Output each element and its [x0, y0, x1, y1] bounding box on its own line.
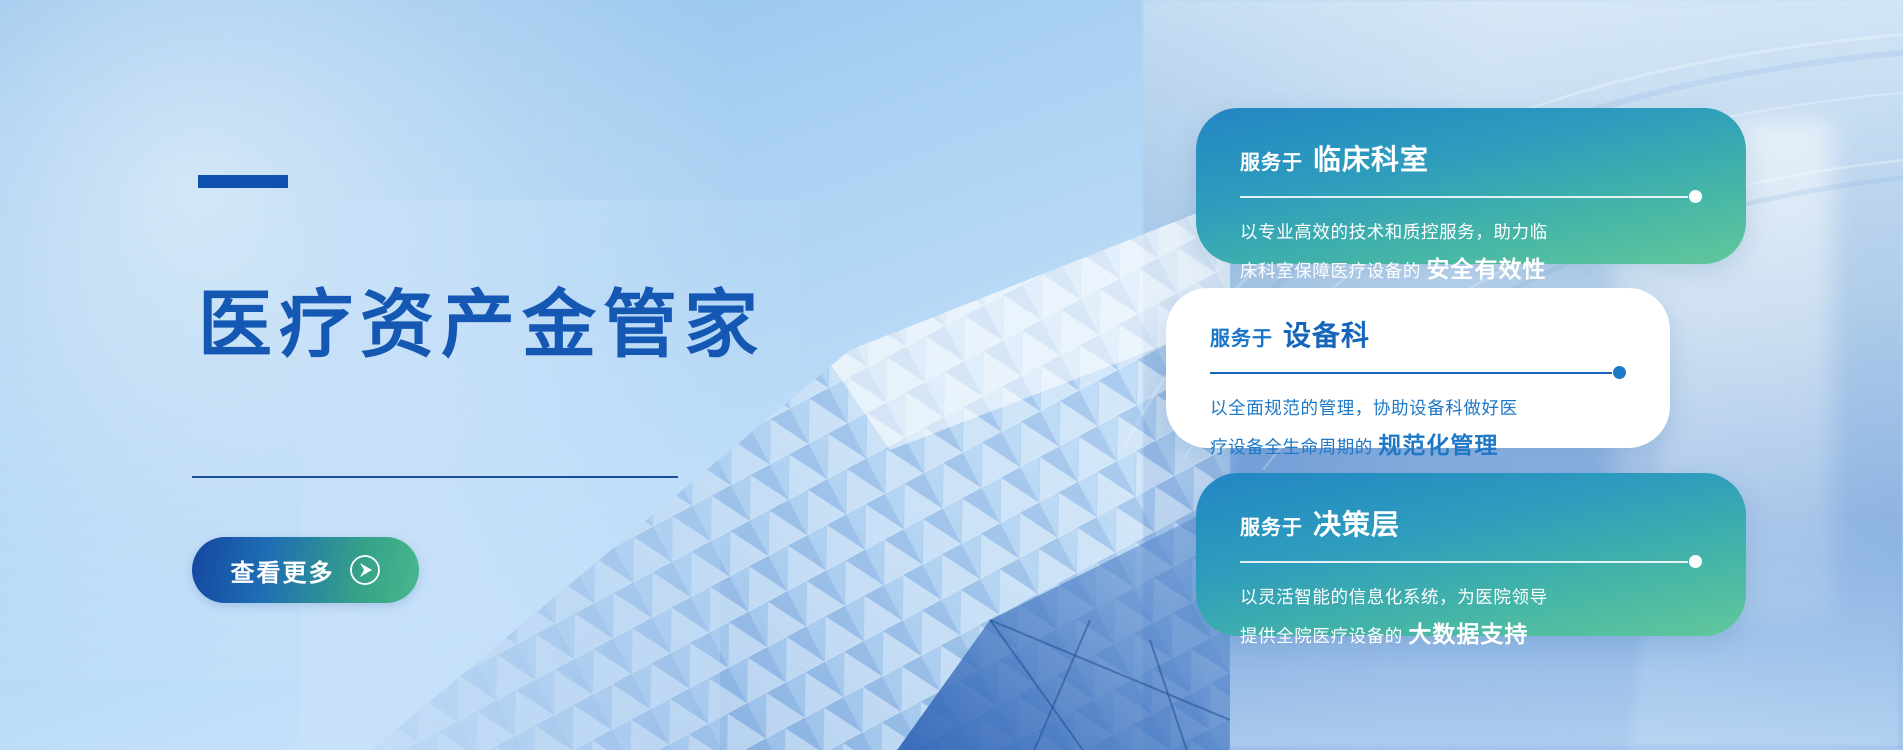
card-heading-prefix: 服务于: [1210, 322, 1273, 351]
card-description-line1: 以灵活智能的信息化系统，为医院领导: [1240, 582, 1702, 614]
card-heading-target: 临床科室: [1313, 138, 1429, 178]
card-description-plain: 提供全院医疗设备的: [1240, 626, 1403, 646]
service-card-decision-makers[interactable]: 服务于 决策层 以灵活智能的信息化系统，为医院领导 提供全院医疗设备的 大数据支…: [1196, 473, 1746, 636]
card-description-line1: 以全面规范的管理，协助设备科做好医: [1210, 393, 1626, 425]
card-rule: [1240, 555, 1702, 569]
card-rule-dot: [1613, 366, 1626, 379]
card-description-line2: 床科室保障医疗设备的 安全有效性: [1240, 249, 1702, 291]
hero-banner: 医疗资产金管家 查看更多 服务于 临床科室 以专业高效的技术和质控服务，助力临: [0, 0, 1903, 750]
card-description-line2: 提供全院医疗设备的 大数据支持: [1240, 614, 1702, 656]
card-heading-prefix: 服务于: [1240, 146, 1303, 175]
card-heading-target: 决策层: [1313, 503, 1400, 543]
card-description-strong: 安全有效性: [1426, 256, 1546, 282]
card-rule: [1240, 190, 1702, 204]
service-card-clinical[interactable]: 服务于 临床科室 以专业高效的技术和质控服务，助力临 床科室保障医疗设备的 安全…: [1196, 108, 1746, 264]
card-description-line2: 疗设备全生命周期的 规范化管理: [1210, 425, 1626, 467]
card-description: 以灵活智能的信息化系统，为医院领导 提供全院医疗设备的 大数据支持: [1240, 582, 1702, 656]
card-heading: 服务于 设备科: [1210, 314, 1626, 354]
card-heading: 服务于 决策层: [1240, 503, 1702, 543]
card-rule-line: [1210, 372, 1612, 374]
card-heading-prefix: 服务于: [1240, 511, 1303, 540]
card-description-plain: 疗设备全生命周期的: [1210, 437, 1373, 457]
card-description-strong: 规范化管理: [1378, 432, 1498, 458]
service-cards: 服务于 临床科室 以专业高效的技术和质控服务，助力临 床科室保障医疗设备的 安全…: [0, 0, 1903, 750]
card-description: 以全面规范的管理，协助设备科做好医 疗设备全生命周期的 规范化管理: [1210, 393, 1626, 467]
card-rule-dot: [1689, 555, 1702, 568]
card-rule: [1210, 366, 1626, 380]
card-description-plain: 床科室保障医疗设备的: [1240, 261, 1421, 281]
service-card-equipment-dept[interactable]: 服务于 设备科 以全面规范的管理，协助设备科做好医 疗设备全生命周期的 规范化管…: [1166, 288, 1670, 448]
card-rule-line: [1240, 196, 1688, 198]
card-description-strong: 大数据支持: [1408, 621, 1528, 647]
card-description-line1: 以专业高效的技术和质控服务，助力临: [1240, 217, 1702, 249]
card-rule-dot: [1689, 190, 1702, 203]
card-description: 以专业高效的技术和质控服务，助力临 床科室保障医疗设备的 安全有效性: [1240, 217, 1702, 291]
card-heading: 服务于 临床科室: [1240, 138, 1702, 178]
card-rule-line: [1240, 561, 1688, 563]
card-heading-target: 设备科: [1283, 314, 1370, 354]
